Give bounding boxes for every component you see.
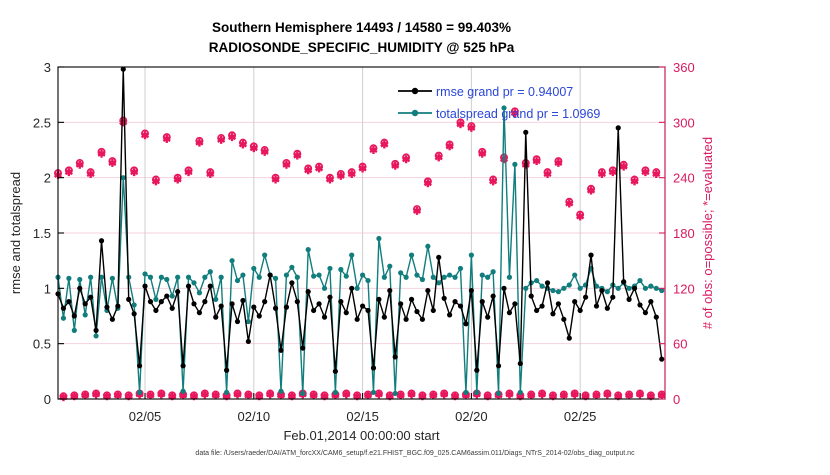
data-point bbox=[512, 162, 517, 167]
data-point bbox=[382, 275, 387, 280]
data-point bbox=[556, 289, 561, 294]
y-right-tick-label: 120 bbox=[673, 281, 695, 296]
chart-title: Southern Hemisphere 14493 / 14580 = 99.4… bbox=[209, 20, 515, 55]
data-point bbox=[594, 303, 599, 308]
x-axis-label: Feb.01,2014 00:00:00 start bbox=[283, 428, 440, 443]
data-point bbox=[420, 317, 425, 322]
data-point bbox=[61, 316, 66, 321]
data-point bbox=[284, 305, 289, 310]
data-point bbox=[507, 310, 512, 315]
data-point bbox=[474, 390, 479, 395]
data-point bbox=[469, 253, 474, 258]
data-point bbox=[534, 308, 539, 313]
data-point bbox=[648, 299, 653, 304]
data-point bbox=[436, 255, 441, 260]
data-point bbox=[191, 280, 196, 285]
data-point bbox=[344, 274, 349, 279]
data-point bbox=[561, 286, 566, 291]
data-point bbox=[447, 272, 452, 277]
data-point bbox=[66, 276, 71, 281]
data-point bbox=[458, 303, 463, 308]
data-point bbox=[469, 288, 474, 293]
data-point bbox=[387, 288, 392, 293]
data-point bbox=[485, 315, 490, 320]
data-point bbox=[262, 253, 267, 258]
data-point bbox=[605, 289, 610, 294]
data-point bbox=[235, 319, 240, 324]
y-right-axis-label: # of obs: o=possible; *=evaluated bbox=[700, 137, 715, 329]
data-point bbox=[327, 266, 332, 271]
data-point bbox=[180, 363, 185, 368]
data-point bbox=[295, 299, 300, 304]
data-point bbox=[137, 390, 142, 395]
data-point bbox=[246, 339, 251, 344]
data-point bbox=[289, 265, 294, 270]
y-tick-label: 2 bbox=[44, 171, 51, 186]
data-point bbox=[572, 272, 577, 277]
legend-item-rmse[interactable]: rmse grand pr = 0.94007 bbox=[398, 85, 573, 99]
data-point bbox=[322, 286, 327, 291]
data-point bbox=[605, 306, 610, 311]
data-point bbox=[316, 272, 321, 277]
data-point bbox=[458, 266, 463, 271]
data-point bbox=[632, 286, 637, 291]
data-point bbox=[257, 275, 262, 280]
y-tick-label: 3 bbox=[44, 60, 51, 75]
y-tick-label: 0 bbox=[44, 392, 51, 407]
y-tick-label: 1.5 bbox=[33, 226, 51, 241]
time-series-chart: Southern Hemisphere 14493 / 14580 = 99.4… bbox=[0, 0, 830, 470]
data-point bbox=[355, 317, 360, 322]
data-point bbox=[202, 299, 207, 304]
data-point bbox=[142, 284, 147, 289]
data-point bbox=[534, 278, 539, 283]
data-point bbox=[180, 389, 185, 394]
data-point bbox=[104, 305, 109, 310]
data-point bbox=[159, 299, 164, 304]
data-point bbox=[316, 301, 321, 306]
footer: data file: /Users/raeder/DAI/ATM_forcXX/… bbox=[195, 450, 635, 457]
data-point bbox=[306, 289, 311, 294]
data-point bbox=[83, 312, 88, 317]
data-point bbox=[572, 299, 577, 304]
data-point bbox=[583, 295, 588, 300]
y-right-tick-label: 300 bbox=[673, 115, 695, 130]
data-point bbox=[463, 390, 468, 395]
data-point bbox=[72, 313, 77, 318]
data-point bbox=[219, 303, 224, 308]
data-point bbox=[311, 308, 316, 313]
data-point bbox=[262, 299, 267, 304]
data-point bbox=[523, 286, 528, 291]
data-point bbox=[99, 238, 104, 243]
data-point bbox=[567, 336, 572, 341]
data-point bbox=[186, 275, 191, 280]
data-point bbox=[643, 286, 648, 291]
data-point bbox=[213, 315, 218, 320]
data-point bbox=[229, 301, 234, 306]
data-point bbox=[115, 303, 120, 308]
data-point bbox=[322, 315, 327, 320]
data-point bbox=[425, 244, 430, 249]
data-point bbox=[360, 272, 365, 277]
y-tick-label: 2.5 bbox=[33, 115, 51, 130]
data-point bbox=[235, 278, 240, 283]
y-right-tick-label: 240 bbox=[673, 171, 695, 186]
x-tick-label: 02/25 bbox=[564, 409, 597, 424]
data-point bbox=[229, 258, 234, 263]
data-point bbox=[643, 310, 648, 315]
data-point bbox=[278, 389, 283, 394]
data-point bbox=[142, 271, 147, 276]
y-right-tick-label: 60 bbox=[673, 337, 687, 352]
data-point bbox=[72, 328, 77, 333]
data-point bbox=[175, 275, 180, 280]
data-point bbox=[240, 272, 245, 277]
data-point bbox=[659, 357, 664, 362]
data-point bbox=[561, 317, 566, 322]
data-point bbox=[398, 301, 403, 306]
data-point bbox=[648, 284, 653, 289]
data-point bbox=[507, 275, 512, 280]
data-point bbox=[333, 369, 338, 374]
data-point bbox=[110, 276, 115, 281]
data-point bbox=[240, 298, 245, 303]
data-point bbox=[578, 308, 583, 313]
title-line-1: Southern Hemisphere 14493 / 14580 = 99.4… bbox=[212, 20, 511, 35]
data-point bbox=[480, 299, 485, 304]
data-file-path: data file: /Users/raeder/DAI/ATM_forcXX/… bbox=[195, 450, 635, 457]
data-point bbox=[202, 275, 207, 280]
y-right-tick-label: 0 bbox=[673, 392, 680, 407]
data-point bbox=[627, 286, 632, 291]
data-point bbox=[474, 368, 479, 373]
data-point bbox=[110, 317, 115, 322]
data-point bbox=[213, 297, 218, 302]
data-point bbox=[208, 269, 213, 274]
data-point bbox=[556, 301, 561, 306]
data-point bbox=[208, 284, 213, 289]
data-point bbox=[300, 391, 305, 396]
data-point bbox=[93, 333, 98, 338]
figure-container: Southern Hemisphere 14493 / 14580 = 99.4… bbox=[0, 0, 830, 470]
data-point bbox=[164, 277, 169, 282]
legend-marker-icon bbox=[412, 110, 418, 116]
data-point bbox=[61, 306, 66, 311]
data-point bbox=[273, 306, 278, 311]
data-point bbox=[599, 288, 604, 293]
data-point bbox=[77, 277, 82, 282]
title-line-2: RADIOSONDE_SPECIFIC_HUMIDITY @ 525 hPa bbox=[209, 40, 515, 55]
data-point bbox=[191, 301, 196, 306]
data-point bbox=[349, 253, 354, 258]
data-point bbox=[175, 289, 180, 294]
data-point bbox=[132, 311, 137, 316]
data-point bbox=[654, 315, 659, 320]
data-point bbox=[578, 286, 583, 291]
data-point bbox=[132, 302, 137, 307]
data-point bbox=[491, 293, 496, 298]
data-point bbox=[382, 315, 387, 320]
data-point bbox=[425, 288, 430, 293]
data-point bbox=[159, 275, 164, 280]
x-tick-label: 02/10 bbox=[238, 409, 271, 424]
obs-markers-layer bbox=[55, 108, 666, 401]
data-point bbox=[404, 317, 409, 322]
data-point bbox=[224, 390, 229, 395]
data-point bbox=[512, 301, 517, 306]
data-point bbox=[627, 297, 632, 302]
data-point bbox=[567, 282, 572, 287]
data-point bbox=[550, 311, 555, 316]
data-point bbox=[224, 368, 229, 373]
data-point bbox=[371, 390, 376, 395]
data-point bbox=[496, 391, 501, 396]
y-tick-label: 0.5 bbox=[33, 337, 51, 352]
data-point bbox=[431, 275, 436, 280]
data-point bbox=[170, 293, 175, 298]
data-point bbox=[306, 247, 311, 252]
data-point bbox=[278, 348, 283, 353]
data-point bbox=[404, 275, 409, 280]
legend-item-totalspread[interactable]: totalspread grand pr = 1.0969 bbox=[398, 107, 600, 121]
data-point bbox=[137, 363, 142, 368]
data-point bbox=[88, 275, 93, 280]
data-point bbox=[295, 275, 300, 280]
data-point bbox=[431, 308, 436, 313]
data-point bbox=[327, 295, 332, 300]
data-point bbox=[616, 125, 621, 130]
data-point bbox=[66, 299, 71, 304]
y-right-tick-label: 180 bbox=[673, 226, 695, 241]
data-point bbox=[365, 278, 370, 283]
data-point bbox=[153, 308, 158, 313]
data-point bbox=[186, 284, 191, 289]
data-point bbox=[485, 275, 490, 280]
data-point bbox=[93, 328, 98, 333]
data-point bbox=[251, 305, 256, 310]
y-axis-label: rmse and totalspread bbox=[8, 172, 23, 294]
data-point bbox=[452, 299, 457, 304]
data-point bbox=[344, 310, 349, 315]
data-point bbox=[463, 321, 468, 326]
data-point bbox=[333, 390, 338, 395]
data-point bbox=[523, 130, 528, 135]
data-point bbox=[539, 284, 544, 289]
data-point bbox=[338, 299, 343, 304]
data-point bbox=[126, 297, 131, 302]
data-point bbox=[447, 312, 452, 317]
data-point bbox=[491, 269, 496, 274]
data-point bbox=[83, 301, 88, 306]
data-point bbox=[148, 275, 153, 280]
data-point bbox=[442, 275, 447, 280]
data-point bbox=[409, 297, 414, 302]
data-point bbox=[518, 361, 523, 366]
legend-marker-icon bbox=[412, 88, 418, 94]
x-tick-label: 02/05 bbox=[129, 409, 162, 424]
data-point bbox=[273, 276, 278, 281]
data-point bbox=[480, 272, 485, 277]
data-point bbox=[219, 275, 224, 280]
data-point bbox=[88, 295, 93, 300]
series-totalspread bbox=[55, 105, 664, 396]
data-point bbox=[197, 290, 202, 295]
data-point bbox=[654, 286, 659, 291]
data-point bbox=[496, 363, 501, 368]
data-point bbox=[164, 293, 169, 298]
data-point bbox=[153, 297, 158, 302]
data-point bbox=[518, 390, 523, 395]
data-point bbox=[197, 310, 202, 315]
data-point bbox=[616, 286, 621, 291]
data-point bbox=[311, 274, 316, 279]
data-point bbox=[442, 296, 447, 301]
data-point bbox=[387, 264, 392, 269]
x-tick-label: 02/20 bbox=[455, 409, 488, 424]
data-point bbox=[268, 272, 273, 277]
data-point bbox=[371, 365, 376, 370]
legend[interactable]: rmse grand pr = 0.94007totalspread grand… bbox=[398, 85, 600, 121]
data-point bbox=[550, 288, 555, 293]
data-point bbox=[637, 302, 642, 307]
data-point bbox=[637, 278, 642, 283]
data-point bbox=[148, 299, 153, 304]
y-tick-label: 1 bbox=[44, 281, 51, 296]
data-point bbox=[376, 297, 381, 302]
data-point bbox=[610, 295, 615, 300]
data-point bbox=[338, 267, 343, 272]
data-point bbox=[393, 354, 398, 359]
x-tick-label: 02/15 bbox=[346, 409, 379, 424]
data-point bbox=[77, 286, 82, 291]
data-point bbox=[529, 293, 534, 298]
data-point bbox=[355, 286, 360, 291]
y-right-tick-label: 360 bbox=[673, 60, 695, 75]
data-point bbox=[360, 303, 365, 308]
data-point bbox=[539, 303, 544, 308]
data-point bbox=[393, 391, 398, 396]
data-point bbox=[376, 236, 381, 241]
series-line-totalspread bbox=[58, 108, 662, 394]
data-point bbox=[621, 279, 626, 284]
data-point bbox=[300, 345, 305, 350]
data-point bbox=[170, 306, 175, 311]
data-point bbox=[409, 253, 414, 258]
data-point bbox=[251, 266, 256, 271]
data-point bbox=[501, 286, 506, 291]
legend-label: totalspread grand pr = 1.0969 bbox=[436, 107, 600, 121]
data-point bbox=[588, 253, 593, 258]
data-point bbox=[545, 280, 550, 285]
data-point bbox=[289, 280, 294, 285]
data-point bbox=[365, 308, 370, 313]
data-point bbox=[257, 313, 262, 318]
legend-label: rmse grand pr = 0.94007 bbox=[436, 85, 573, 99]
data-point bbox=[452, 275, 457, 280]
data-point bbox=[284, 272, 289, 277]
data-point bbox=[414, 272, 419, 277]
data-point bbox=[349, 286, 354, 291]
data-point bbox=[420, 277, 425, 282]
data-point bbox=[414, 309, 419, 314]
data-point bbox=[398, 270, 403, 275]
